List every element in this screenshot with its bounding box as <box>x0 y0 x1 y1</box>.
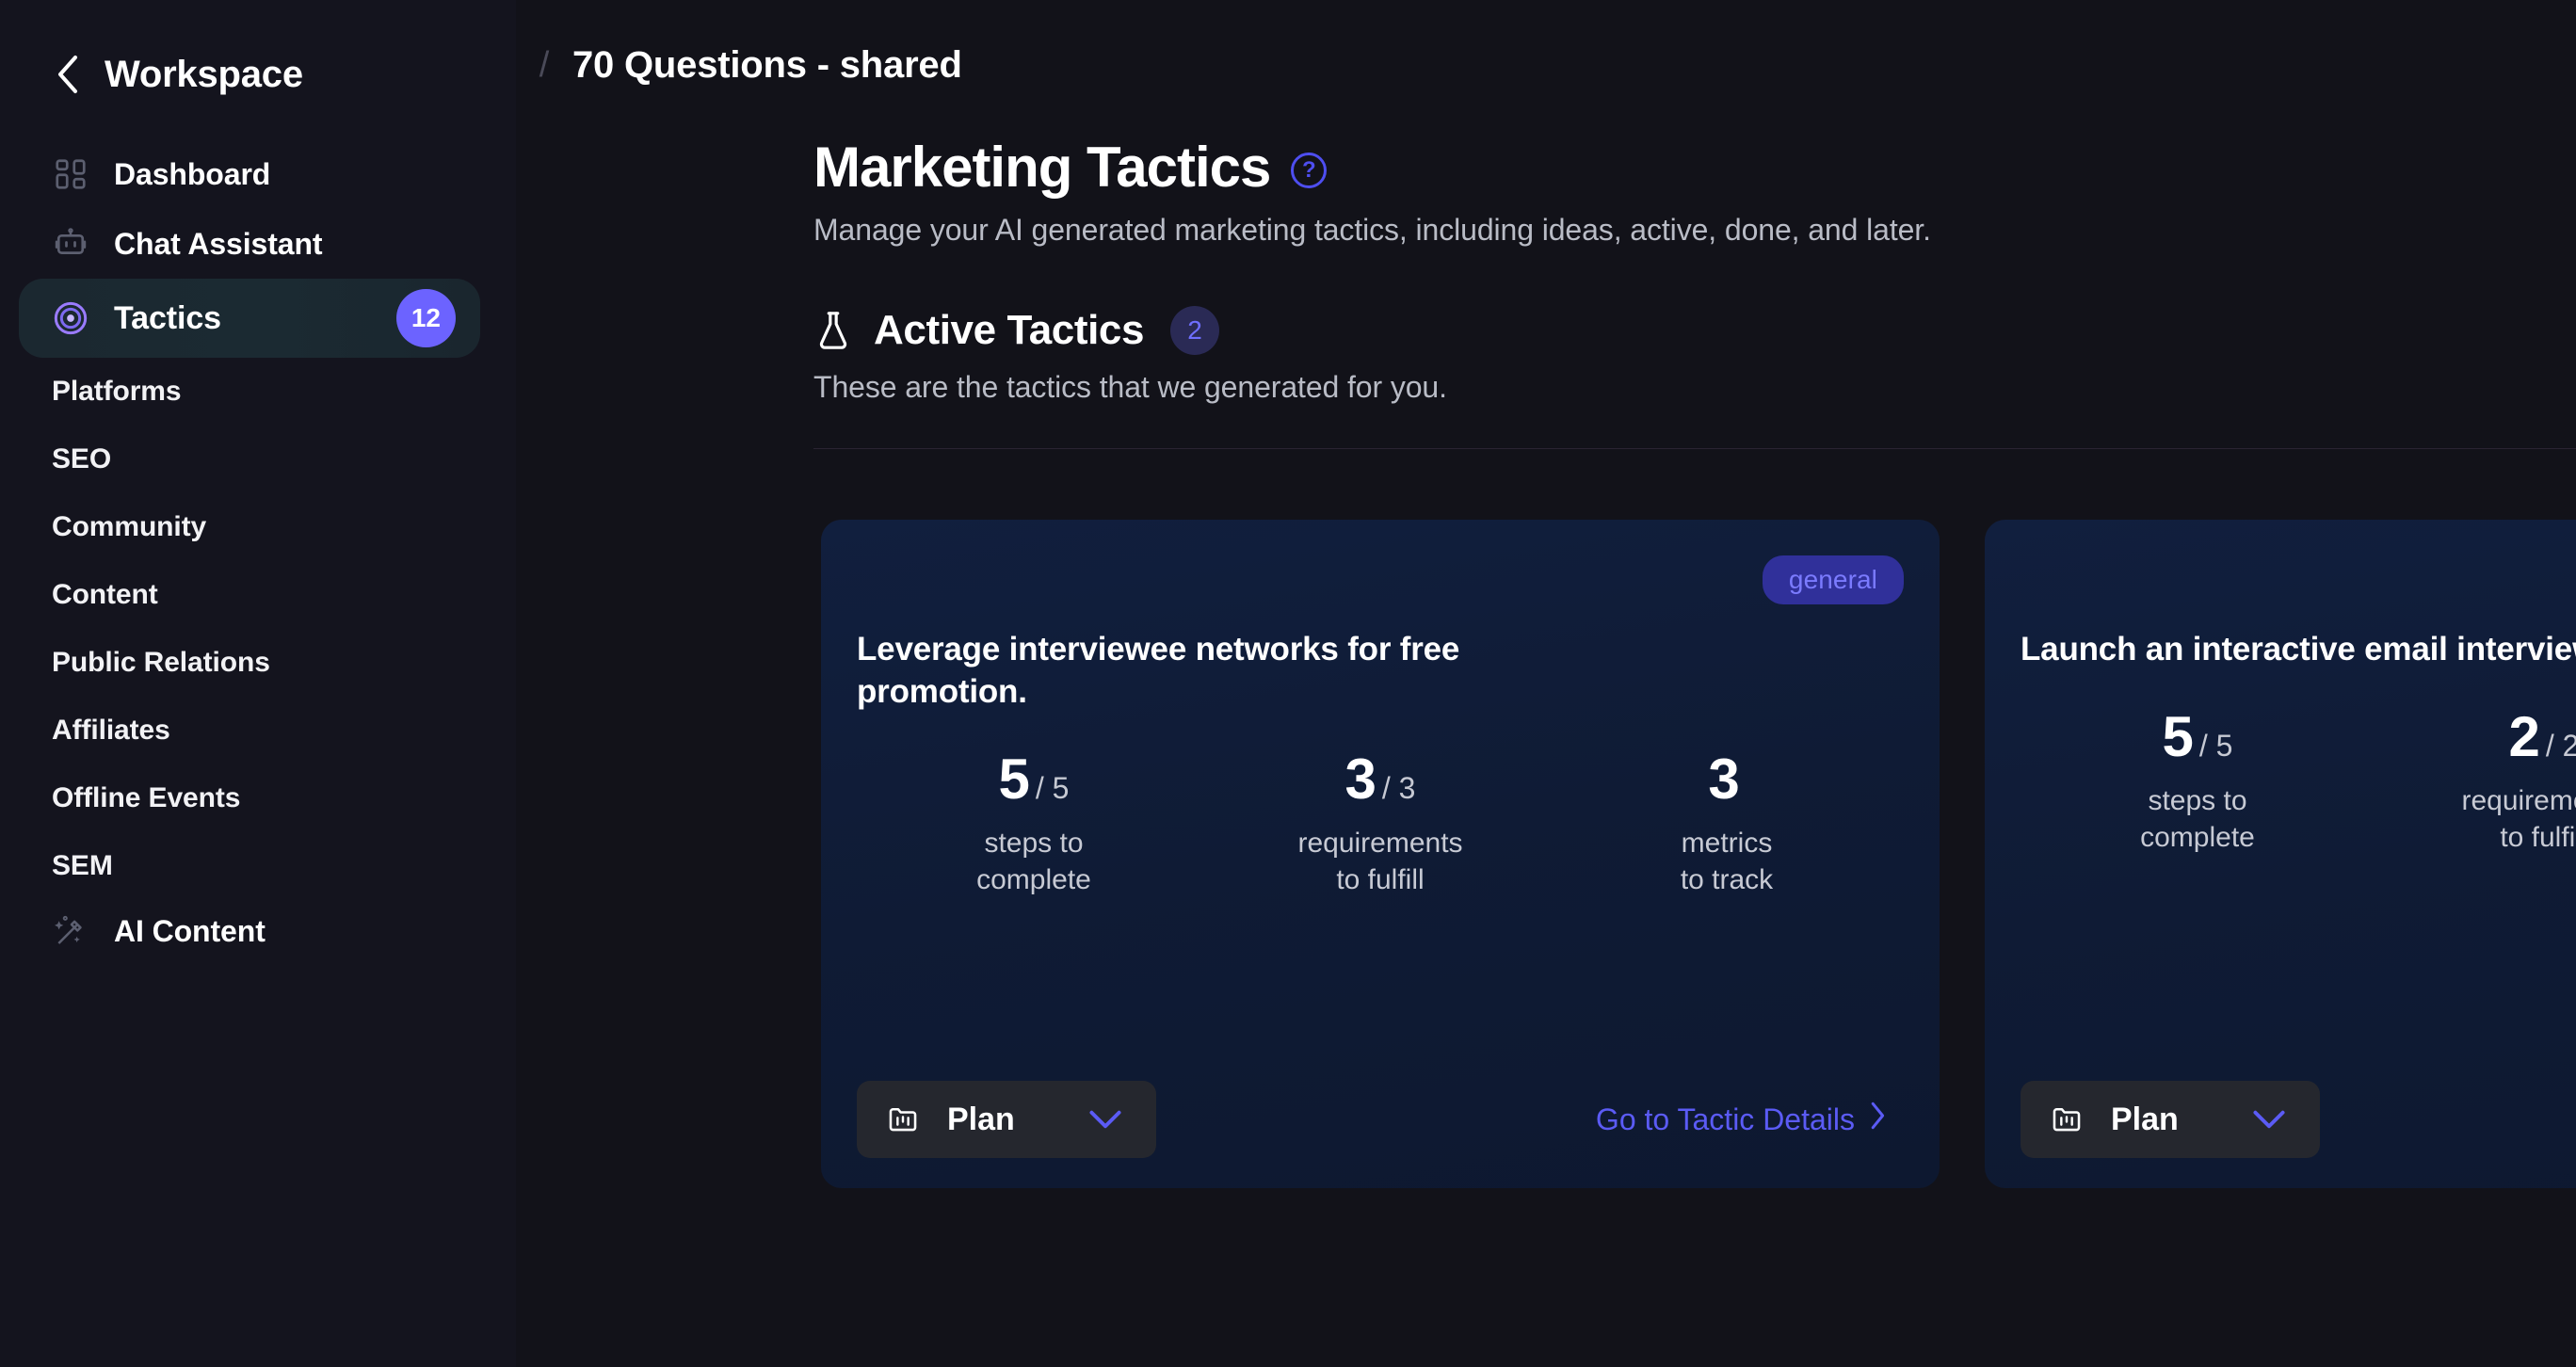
stat-steps: 5 / 5 steps to complete <box>861 751 1207 899</box>
sidebar-nav: Dashboard Chat Assistant <box>0 139 516 962</box>
category-tag: general <box>1763 555 1904 604</box>
chevron-left-icon[interactable] <box>52 56 84 93</box>
sidebar-item-chat-assistant[interactable]: Chat Assistant <box>0 209 516 279</box>
sidebar-header: Workspace <box>0 17 516 107</box>
tactic-title: Launch an interactive email interview se… <box>2021 629 2576 671</box>
breadcrumb-current[interactable]: 70 Questions - shared <box>572 44 962 87</box>
tactic-card[interactable]: general Launch an interactive email inte… <box>1985 520 2576 1188</box>
breadcrumb: / 70 Questions - shared <box>516 0 2576 90</box>
tactic-title: Leverage interviewee networks for free p… <box>857 629 1629 714</box>
plan-dropdown-button[interactable]: Plan <box>2021 1081 2320 1158</box>
sidebar-item-sem[interactable]: SEM <box>0 832 516 900</box>
tactic-stats: 5 / 5 steps to complete 3 / 3 requiremen… <box>857 751 1904 899</box>
workspace-title[interactable]: Workspace <box>105 54 303 96</box>
sidebar-item-label: Community <box>52 511 206 543</box>
card-footer: Plan Go to Tactic Details <box>2021 1081 2576 1158</box>
stat-steps: 5 / 5 steps to complete <box>2024 709 2371 857</box>
stat-value: 3 <box>1708 751 1739 808</box>
sidebar-item-label: Chat Assistant <box>114 227 322 262</box>
stat-total: / 5 <box>2199 729 2233 764</box>
stat-label: requirements to fulfill <box>2371 782 2576 857</box>
sidebar: Workspace Dashboard <box>0 0 516 1367</box>
stat-label: steps to complete <box>861 825 1207 899</box>
chevron-down-icon[interactable] <box>2250 1101 2288 1138</box>
app-root: Workspace Dashboard <box>0 0 2576 1367</box>
stat-label: metrics to track <box>1554 825 1900 899</box>
section-title-row: Active Tactics 2 <box>813 306 2576 355</box>
go-to-tactic-details-link[interactable]: Go to Tactic Details <box>1596 1102 1904 1137</box>
help-circle-icon[interactable]: ? <box>1291 153 1327 188</box>
sidebar-item-dashboard[interactable]: Dashboard <box>0 139 516 209</box>
stat-requirements: 3 / 3 requirements to fulfill <box>1207 751 1554 899</box>
sidebar-item-ai-content[interactable]: AI Content <box>0 900 516 962</box>
stat-total: / 2 <box>2546 729 2576 764</box>
active-tactics-section: Active Tactics 2 These are the tactics t… <box>516 248 2576 449</box>
tactics-badge: 12 <box>396 289 456 347</box>
page-header: Marketing Tactics ? Manage your AI gener… <box>516 90 2576 248</box>
page-title-row: Marketing Tactics ? <box>813 139 2576 196</box>
stat-label: requirements to fulfill <box>1207 825 1554 899</box>
sidebar-item-label: Platforms <box>52 376 181 408</box>
stat-value: 3 <box>1345 751 1377 808</box>
chevron-down-icon[interactable] <box>1087 1101 1124 1138</box>
section-count-badge: 2 <box>1170 306 1219 355</box>
sidebar-item-label: AI Content <box>114 914 266 949</box>
sidebar-item-label: Public Relations <box>52 647 270 679</box>
sidebar-item-label: Dashboard <box>114 157 270 192</box>
stat-numbers: 3 / 3 <box>1207 751 1554 808</box>
sidebar-item-affiliates[interactable]: Affiliates <box>0 697 516 764</box>
kanban-folder-icon <box>2049 1102 2085 1137</box>
sidebar-item-label: Tactics <box>114 300 221 337</box>
plan-dropdown-button[interactable]: Plan <box>857 1081 1156 1158</box>
flask-icon <box>813 307 853 354</box>
sidebar-item-offline-events[interactable]: Offline Events <box>0 764 516 832</box>
stat-numbers: 5 / 5 <box>861 751 1207 808</box>
sidebar-item-community[interactable]: Community <box>0 493 516 561</box>
stat-value: 2 <box>2509 709 2540 765</box>
details-link-label: Go to Tactic Details <box>1596 1102 1855 1137</box>
stat-numbers: 3 <box>1554 751 1900 808</box>
sidebar-item-content[interactable]: Content <box>0 561 516 629</box>
sidebar-item-label: SEM <box>52 850 113 882</box>
sidebar-item-label: Offline Events <box>52 782 240 814</box>
stat-value: 5 <box>2163 709 2194 765</box>
chevron-right-icon <box>1870 1102 1887 1137</box>
card-footer: Plan Go to Tactic Details <box>857 1081 1904 1158</box>
sidebar-item-label: SEO <box>52 443 111 475</box>
main-content: / 70 Questions - shared Marketing Tactic… <box>516 0 2576 1367</box>
page-title: Marketing Tactics <box>813 139 1270 196</box>
robot-icon <box>52 225 89 263</box>
stat-metrics: 3 metrics to track <box>1554 751 1900 899</box>
tactic-card[interactable]: general Leverage interviewee networks fo… <box>821 520 1940 1188</box>
page-subtitle: Manage your AI generated marketing tacti… <box>813 213 2576 248</box>
kanban-folder-icon <box>885 1102 921 1137</box>
card-tag-row: general <box>857 555 1904 604</box>
stat-value: 5 <box>999 751 1030 808</box>
section-subtitle: These are the tactics that we generated … <box>813 370 2576 405</box>
plan-label: Plan <box>947 1102 1015 1138</box>
stat-numbers: 5 / 5 <box>2024 709 2371 765</box>
target-icon <box>52 299 89 337</box>
grid-icon <box>52 155 89 193</box>
sidebar-item-platforms[interactable]: Platforms <box>0 358 516 426</box>
sidebar-item-label: Affiliates <box>52 715 170 747</box>
sidebar-item-public-relations[interactable]: Public Relations <box>0 629 516 697</box>
section-title: Active Tactics <box>874 307 1144 354</box>
sidebar-item-tactics[interactable]: Tactics 12 <box>19 279 480 358</box>
stat-requirements: 2 / 2 requirements to fulfill <box>2371 709 2576 857</box>
tactic-card-list: general Leverage interviewee networks fo… <box>516 449 2576 1188</box>
sidebar-item-seo[interactable]: SEO <box>0 426 516 493</box>
plan-label: Plan <box>2111 1102 2179 1138</box>
sidebar-item-label: Content <box>52 579 158 611</box>
stat-total: / 5 <box>1036 771 1070 806</box>
stat-numbers: 2 / 2 <box>2371 709 2576 765</box>
stat-label: steps to complete <box>2024 782 2371 857</box>
tactic-stats: 5 / 5 steps to complete 2 / 2 requiremen… <box>2021 709 2576 857</box>
stat-total: / 3 <box>1382 771 1416 806</box>
card-tag-row: general <box>2021 555 2576 604</box>
breadcrumb-separator: / <box>516 45 572 86</box>
magic-wand-icon <box>52 912 89 950</box>
